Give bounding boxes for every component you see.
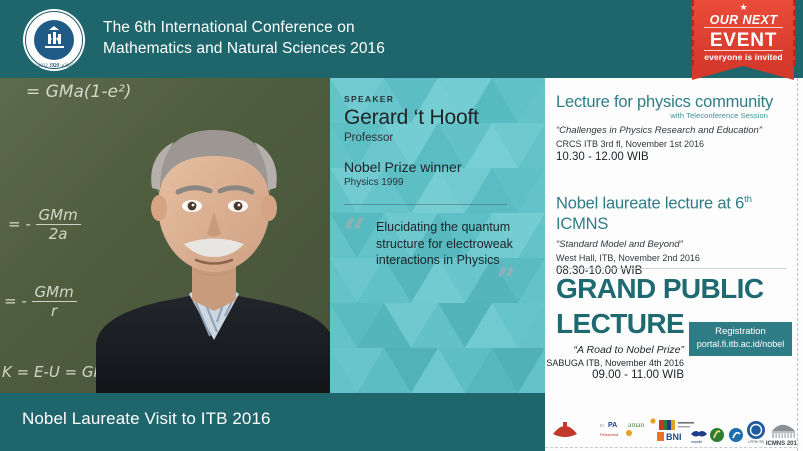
chalk-equation-1: = GMa(1-e²) bbox=[26, 82, 131, 102]
speaker-role: Professor bbox=[344, 132, 534, 144]
svg-text:PA: PA bbox=[608, 422, 617, 429]
badge-divider-bottom bbox=[704, 50, 783, 51]
chalk-equation-3: = - GMm r bbox=[4, 283, 77, 320]
icmns-2016-logo: ICMNS 2016 bbox=[766, 425, 797, 447]
event-2-topic: “Standard Model and Beyond” bbox=[556, 239, 788, 250]
registration-url[interactable]: portal.fi.itb.ac.id/nobel bbox=[689, 339, 792, 349]
quote-line-1: Elucidating the quantum bbox=[376, 219, 534, 236]
speaker-quote: “ Elucidating the quantum structure for … bbox=[344, 219, 534, 269]
bni-logo: BNI bbox=[657, 432, 682, 442]
grand-lecture-topic: “A Road to Nobel Prize” bbox=[556, 344, 684, 356]
registration-label: Registration bbox=[689, 326, 792, 337]
quote-close-icon: ” bbox=[496, 271, 516, 291]
event-2-heading: Nobel laureate lecture at 6th ICMNS bbox=[556, 190, 788, 234]
event-1-heading: Lecture for physics community bbox=[556, 92, 788, 112]
chalk-eq2-denominator: 2a bbox=[36, 225, 81, 243]
chalk-eq2-lead: = - bbox=[8, 215, 31, 233]
event-1-place: CRCS ITB 3rd fl, November 1st 2016 bbox=[556, 139, 788, 149]
event-2-heading-pre: Nobel laureate lecture at 6 bbox=[556, 195, 744, 213]
grand-lecture-time: 09.00 - 11.00 WIB bbox=[545, 369, 684, 381]
conference-title: The 6th International Conference on Math… bbox=[103, 17, 385, 59]
bank-mandiri-logo: mandiri bbox=[691, 431, 707, 444]
svg-text:mandiri: mandiri bbox=[691, 440, 702, 444]
sponsor-dashed-divider bbox=[545, 447, 797, 448]
chalk-equation-2: = - GMm 2a bbox=[8, 206, 81, 243]
speaker-label: SPEAKER bbox=[344, 94, 534, 104]
badge-line-event: EVENT bbox=[692, 30, 795, 52]
event-2-heading-sup: th bbox=[744, 194, 752, 205]
quote-open-icon: “ bbox=[343, 217, 366, 251]
event-2-place: West Hall, ITB, November 2nd 2016 bbox=[556, 253, 788, 263]
footer-bar: Nobel Laureate Visit to ITB 2016 bbox=[0, 393, 545, 451]
grand-lecture-line1: GRAND PUBLIC bbox=[556, 274, 763, 304]
bank-bjb-logo bbox=[729, 428, 743, 442]
badge-line-our-next: OUR NEXT bbox=[692, 13, 795, 27]
event-1-subheading: with Teleconference Session bbox=[556, 111, 768, 120]
svg-text:Pertamina: Pertamina bbox=[600, 432, 619, 437]
conference-title-line2: Mathematics and Natural Sciences 2016 bbox=[103, 38, 385, 59]
sponsor-green-logo bbox=[710, 428, 724, 442]
svg-text:III: III bbox=[600, 423, 604, 428]
chalk-eq3-lead: = - bbox=[4, 292, 27, 310]
header-bar: \u2022 1920 \u2022 1920 The 6th Internat… bbox=[0, 0, 803, 78]
svg-text:BNI: BNI bbox=[666, 432, 682, 442]
poster-root: \u2022 1920 \u2022 1920 The 6th Internat… bbox=[0, 0, 803, 451]
registration-box[interactable]: Registration portal.fi.itb.ac.id/nobel bbox=[689, 322, 792, 356]
speaker-divider bbox=[344, 204, 507, 205]
chalk-eq3-numerator: GMm bbox=[32, 283, 77, 302]
conference-title-line1: The 6th International Conference on bbox=[103, 19, 355, 36]
next-event-badge[interactable]: ★ OUR NEXT EVENT everyone is invited bbox=[692, 0, 795, 80]
star-icon: ★ bbox=[692, 3, 795, 12]
lppm-itb-logo: LPPM ITB bbox=[747, 421, 765, 444]
event-1-time: 10.30 - 12.00 WIB bbox=[556, 151, 788, 163]
footer-title: Nobel Laureate Visit to ITB 2016 bbox=[22, 409, 271, 429]
svg-text:LPPM ITB: LPPM ITB bbox=[748, 440, 764, 444]
chalk-eq3-denominator: r bbox=[32, 302, 77, 320]
badge-line-invited: everyone is invited bbox=[692, 52, 795, 62]
itb-seal-year: 1920 bbox=[49, 63, 60, 69]
sponsor-logos: PA III Pertamina aman BN bbox=[545, 412, 797, 448]
speaker-name: Gerard ‘t Hooft bbox=[344, 106, 534, 130]
portrait-illustration bbox=[86, 108, 330, 393]
badge-ribbon-tail bbox=[692, 66, 794, 80]
badge-divider-top bbox=[704, 27, 783, 28]
speaker-photo: = GMa(1-e²) = - GMm 2a = - GMm r K = E-U… bbox=[0, 78, 330, 393]
chalk-eq2-numerator: GMm bbox=[36, 206, 81, 225]
speaker-prize: Nobel Prize winner bbox=[344, 159, 534, 175]
telkom-logo bbox=[659, 420, 694, 430]
event-1-topic: “Challenges in Physics Research and Educ… bbox=[556, 125, 788, 136]
grand-lecture-line2: LECTURE bbox=[556, 309, 684, 339]
pertamina-logo: PA III Pertamina bbox=[600, 422, 619, 437]
svg-text:aman: aman bbox=[628, 420, 644, 429]
quote-line-2: structure for electroweak bbox=[376, 236, 534, 253]
anugerah-inti-mulia-logo bbox=[553, 422, 577, 437]
event-block-physics-community: Lecture for physics community with Telec… bbox=[556, 92, 788, 163]
aman-logo: aman bbox=[626, 418, 656, 436]
speaker-text-block: SPEAKER Gerard ‘t Hooft Professor Nobel … bbox=[344, 94, 534, 269]
event-2-heading-post: ICMNS bbox=[556, 215, 608, 233]
sponsor-logo-strip: PA III Pertamina aman BN bbox=[545, 412, 797, 448]
event-block-nobel-lecture: Nobel laureate lecture at 6th ICMNS “Sta… bbox=[556, 190, 788, 277]
sidebar-dashed-border bbox=[797, 78, 798, 451]
speaker-info-panel: SPEAKER Gerard ‘t Hooft Professor Nobel … bbox=[330, 78, 545, 393]
speaker-prize-detail: Physics 1999 bbox=[344, 177, 534, 188]
sidebar-divider bbox=[558, 268, 786, 269]
itb-seal-logo: \u2022 1920 \u2022 1920 bbox=[18, 4, 90, 76]
grand-lecture-place: SABUGA ITB, November 4th 2016 bbox=[545, 358, 684, 368]
schedule-sidebar: Lecture for physics community with Telec… bbox=[545, 78, 803, 451]
